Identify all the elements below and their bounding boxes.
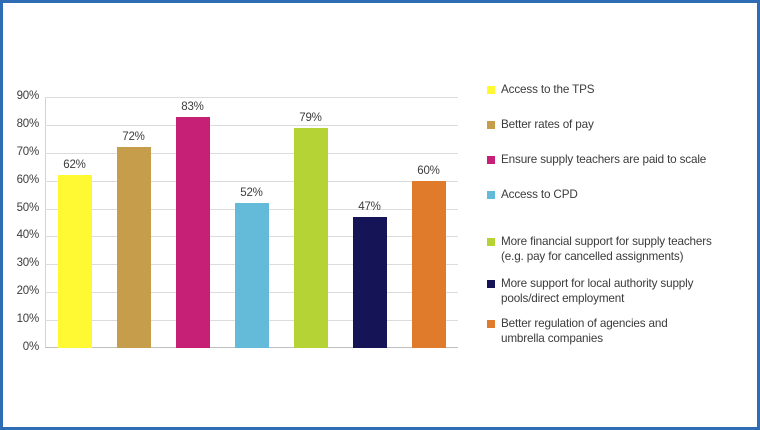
bar-group: 60% [412, 97, 446, 348]
bar-value-label: 62% [63, 159, 85, 171]
y-axis-tick-label: 60% [5, 174, 39, 186]
legend-swatch-icon [487, 121, 495, 129]
legend-swatch-icon [487, 320, 495, 328]
legend-item-label: More support for local authority supply … [501, 277, 693, 306]
bar[interactable] [176, 117, 210, 348]
legend-item-label: More financial support for supply teache… [501, 235, 712, 264]
legend-item[interactable]: More support for local authority supply … [487, 277, 755, 306]
bar-value-label: 47% [358, 201, 380, 213]
bar-group: 72% [117, 97, 151, 348]
legend-swatch-icon [487, 156, 495, 164]
legend-swatch-icon [487, 238, 495, 246]
bar-value-label: 79% [299, 112, 321, 124]
legend-item[interactable]: Better rates of pay [487, 118, 755, 133]
legend-item[interactable]: Ensure supply teachers are paid to scale [487, 153, 755, 168]
bar-value-label: 72% [122, 131, 144, 143]
legend-swatch-icon [487, 191, 495, 199]
y-axis-tick-label: 40% [5, 229, 39, 241]
y-axis-tick-label: 10% [5, 313, 39, 325]
bar-group: 83% [176, 97, 210, 348]
bar-group: 79% [294, 97, 328, 348]
legend-item-label: Ensure supply teachers are paid to scale [501, 153, 706, 168]
bar-value-label: 52% [240, 187, 262, 199]
legend-item[interactable]: Access to the TPS [487, 83, 755, 98]
y-axis-tick-label: 90% [5, 90, 39, 102]
bar[interactable] [235, 203, 269, 348]
legend-item[interactable]: Access to CPD [487, 188, 755, 203]
bar[interactable] [294, 128, 328, 348]
y-axis-tick-label: 30% [5, 257, 39, 269]
bar[interactable] [412, 181, 446, 348]
chart-screenshot: 90%80%70%60%50%40%30%20%10%0% 62%72%83%5… [0, 0, 760, 430]
y-axis-tick-label: 70% [5, 146, 39, 158]
legend-swatch-icon [487, 86, 495, 94]
bar-group: 47% [353, 97, 387, 348]
legend-item-label: Better regulation of agencies and umbrel… [501, 317, 668, 346]
y-axis-tick-label: 80% [5, 118, 39, 130]
y-axis-tick-label: 0% [5, 341, 39, 353]
legend-item-label: Access to CPD [501, 188, 578, 203]
y-axis: 90%80%70%60%50%40%30%20%10%0% [3, 3, 45, 430]
legend-item[interactable]: More financial support for supply teache… [487, 235, 755, 264]
legend-item[interactable]: Better regulation of agencies and umbrel… [487, 317, 755, 346]
bar[interactable] [58, 175, 92, 348]
bar[interactable] [353, 217, 387, 348]
plot-area: 62%72%83%52%79%47%60% [45, 97, 458, 348]
legend-swatch-icon [487, 280, 495, 288]
legend-item-label: Better rates of pay [501, 118, 594, 133]
y-axis-tick-label: 20% [5, 285, 39, 297]
bar-value-label: 60% [417, 165, 439, 177]
bar[interactable] [117, 147, 151, 348]
legend-item-label: Access to the TPS [501, 83, 594, 98]
bar-group: 52% [235, 97, 269, 348]
bar-group: 62% [58, 97, 92, 348]
bar-value-label: 83% [181, 101, 203, 113]
bar-chart: 90%80%70%60%50%40%30%20%10%0% 62%72%83%5… [3, 3, 473, 430]
y-axis-tick-label: 50% [5, 202, 39, 214]
